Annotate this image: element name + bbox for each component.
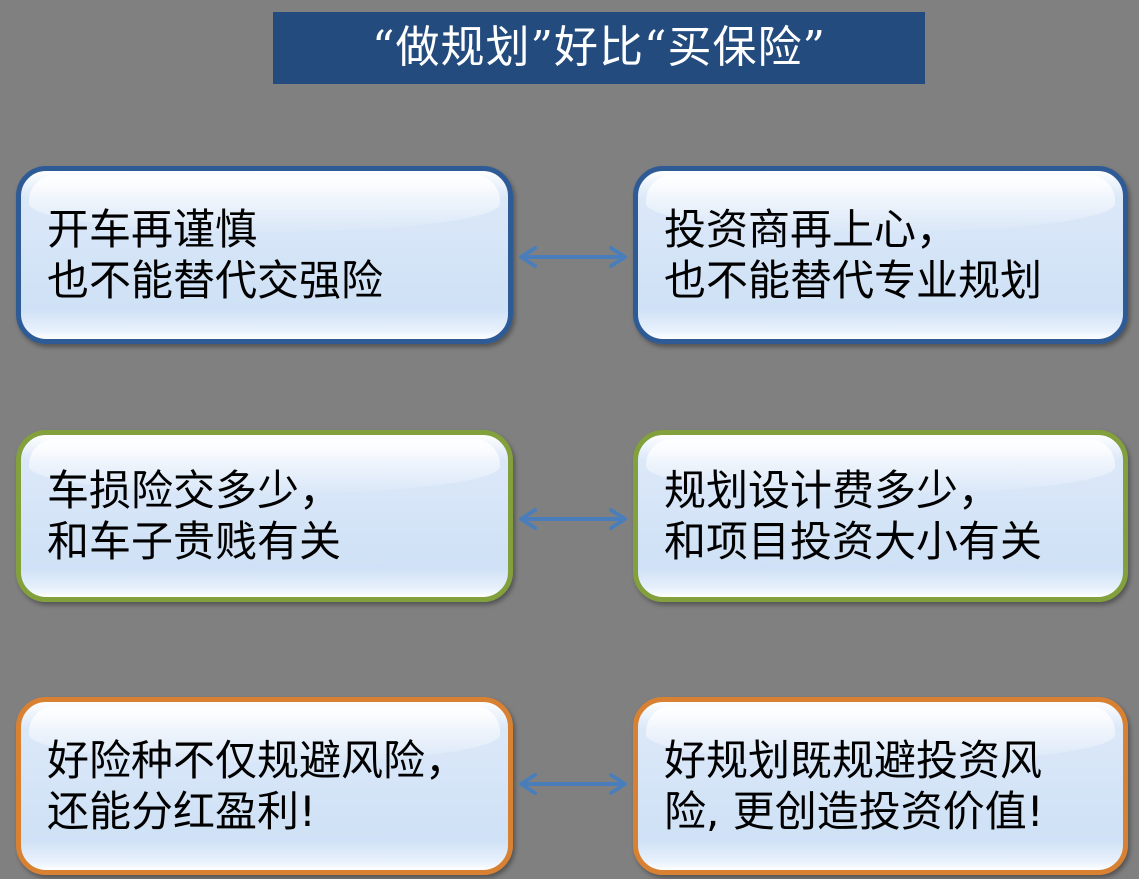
callout-text: 规划设计费多少， 和项目投资大小有关 (638, 465, 1052, 567)
callout-text: 投资商再上心， 也不能替代专业规划 (638, 204, 1052, 306)
slide-title-banner: “做规划”好比“买保险” (273, 12, 925, 84)
callout-box-row3-left: 好险种不仅规避风险， 还能分红盈利! (16, 697, 513, 875)
double-headed-arrow-icon (521, 248, 625, 266)
callout-box-row2-left: 车损险交多少， 和车子贵贱有关 (16, 430, 513, 602)
double-headed-arrow-icon (521, 510, 625, 528)
callout-text: 好险种不仅规避风险， 还能分红盈利! (21, 735, 477, 837)
page-title: “做规划”好比“买保险” (372, 26, 826, 70)
callout-box-row2-right: 规划设计费多少， 和项目投资大小有关 (633, 430, 1128, 602)
connector-arrow-row1 (513, 243, 633, 271)
callout-box-row1-left: 开车再谨慎 也不能替代交强险 (16, 166, 513, 344)
callout-text: 开车再谨慎 也不能替代交强险 (21, 204, 393, 306)
connector-arrow-row2 (513, 505, 633, 533)
callout-text: 好规划既规避投资风 险, 更创造投资价值! (638, 735, 1054, 837)
callout-box-row3-right: 好规划既规避投资风 险, 更创造投资价值! (633, 697, 1128, 875)
connector-arrow-row3 (513, 770, 633, 798)
double-headed-arrow-icon (521, 775, 625, 793)
callout-box-row1-right: 投资商再上心， 也不能替代专业规划 (633, 166, 1128, 344)
callout-text: 车损险交多少， 和车子贵贱有关 (21, 465, 351, 567)
